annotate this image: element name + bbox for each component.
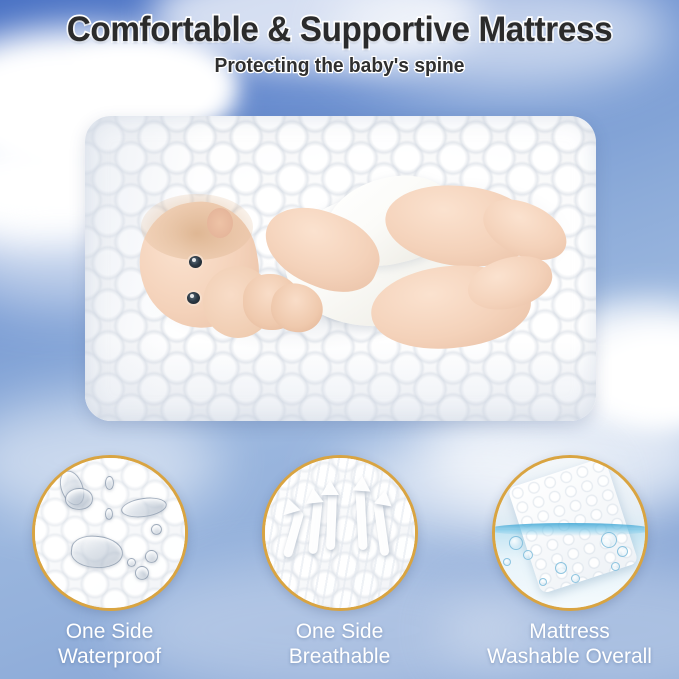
mattress-product-image [85,116,596,421]
header-block: Comfortable & Supportive Mattress Protec… [0,10,679,78]
feature-item-washable[interactable]: Mattress Washable Overall [472,455,668,669]
water-surface-line [492,523,648,536]
feature-list: One Side Waterproof One Side Breathable [0,455,679,669]
feature-label: Mattress Washable Overall [472,620,668,669]
mattress-edge-highlight [85,116,596,421]
feature-label: One Side Waterproof [12,620,208,669]
product-infographic: Comfortable & Supportive Mattress Protec… [0,0,679,679]
page-subtitle: Protecting the baby's spine [14,55,666,78]
page-title: Comfortable & Supportive Mattress [17,10,662,50]
airflow-arrows-icon [262,455,418,611]
water-droplets-icon [32,455,188,611]
feature-label: One Side Breathable [242,620,438,669]
feature-item-waterproof[interactable]: One Side Waterproof [12,455,208,669]
fabric-ribbing [265,458,415,608]
feature-item-breathable[interactable]: One Side Breathable [242,455,438,669]
mattress-in-water-icon [492,455,648,611]
